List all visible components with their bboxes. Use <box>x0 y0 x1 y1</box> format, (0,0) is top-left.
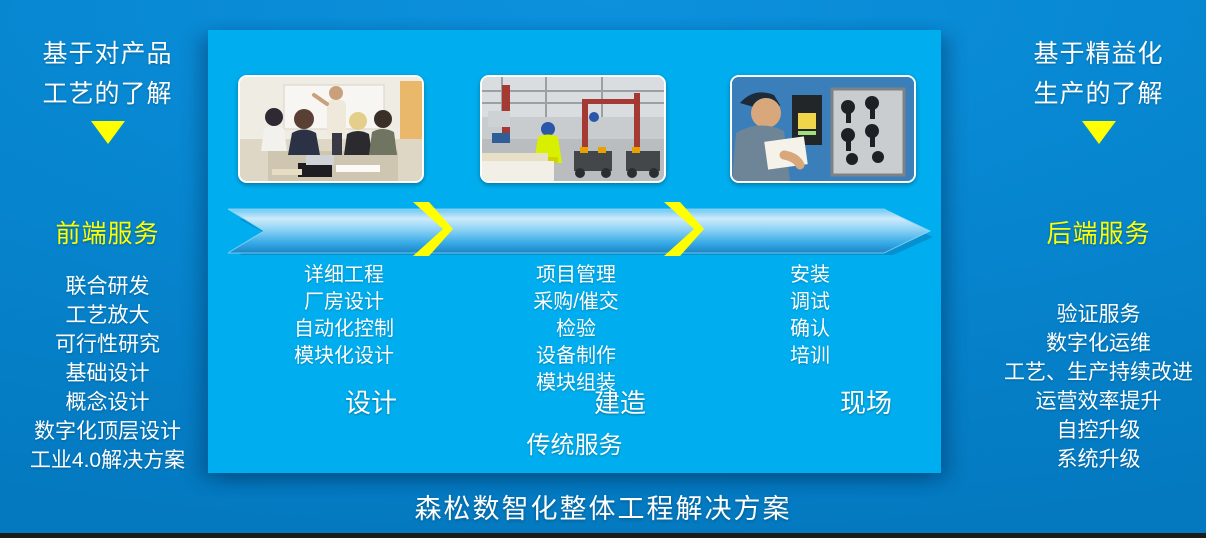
chevron-right-shape <box>660 200 706 258</box>
meeting-photo-illustration <box>240 77 422 181</box>
left-column: 基于对产品 工艺的了解 前端服务 联合研发 工艺放大 可行性研究 基础设计 概念… <box>0 0 215 500</box>
service-column-build: 项目管理 采购/催交 检验 设备制作 模块组装 <box>470 262 682 397</box>
list-item: 数字化运维 <box>991 329 1206 358</box>
right-headline-line1: 基于精益化 <box>991 34 1206 74</box>
list-item: 自控升级 <box>991 416 1206 445</box>
list-item: 确认 <box>720 316 900 343</box>
triangle-down-icon <box>91 121 125 144</box>
list-item: 基础设计 <box>0 359 215 388</box>
service-columns: 详细工程 厂房设计 自动化控制 模块化设计 项目管理 采购/催交 检验 设备制作… <box>208 262 941 412</box>
right-headline-line2: 生产的了解 <box>991 74 1206 114</box>
chevron-right-shape <box>409 200 455 258</box>
slide-canvas: 基于对产品 工艺的了解 前端服务 联合研发 工艺放大 可行性研究 基础设计 概念… <box>0 0 1206 538</box>
slide-caption: 森松数智化整体工程解决方案 <box>0 487 1206 526</box>
triangle-down-icon <box>1082 121 1116 144</box>
list-item: 安装 <box>720 262 900 289</box>
arrow-band-shape <box>228 205 938 259</box>
right-column: 基于精益化 生产的了解 后端服务 验证服务 数字化运维 工艺、生产持续改进 运营… <box>991 0 1206 500</box>
service-column-design: 详细工程 厂房设计 自动化控制 模块化设计 <box>238 262 450 370</box>
list-item: 数字化顶层设计 <box>0 417 215 446</box>
photo-workshop-fabrication <box>480 75 666 183</box>
list-item: 联合研发 <box>0 272 215 301</box>
service-list: 安装 调试 确认 培训 <box>720 262 900 370</box>
chevron-right-icon <box>660 200 706 263</box>
list-item: 模块组装 <box>470 370 682 397</box>
service-list: 项目管理 采购/催交 检验 设备制作 模块组装 <box>470 262 682 397</box>
list-item: 模块化设计 <box>238 343 450 370</box>
right-section-title: 后端服务 <box>991 214 1206 250</box>
left-headline-line1: 基于对产品 <box>0 34 215 74</box>
list-item: 验证服务 <box>991 300 1206 329</box>
list-item: 系统升级 <box>991 445 1206 474</box>
list-item: 工艺、生产持续改进 <box>991 358 1206 387</box>
list-item: 工艺放大 <box>0 301 215 330</box>
left-section-title: 前端服务 <box>0 214 215 250</box>
left-headline-line2: 工艺的了解 <box>0 74 215 114</box>
photo-design-meeting <box>238 75 424 183</box>
field-photo-illustration <box>732 77 914 181</box>
list-item: 调试 <box>720 289 900 316</box>
list-item: 概念设计 <box>0 388 215 417</box>
traditional-service-label: 传统服务 <box>208 425 941 460</box>
right-service-list: 验证服务 数字化运维 工艺、生产持续改进 运营效率提升 自控升级 系统升级 <box>991 300 1206 474</box>
photo-field-commissioning <box>730 75 916 183</box>
left-service-list: 联合研发 工艺放大 可行性研究 基础设计 概念设计 数字化顶层设计 工业4.0解… <box>0 272 215 475</box>
bottom-divider <box>0 533 1206 538</box>
service-column-site: 安装 调试 确认 培训 <box>720 262 900 370</box>
center-panel: 设计 建造 现场 详细工程 厂房设计 自动化控制 模块化设计 <box>208 30 941 473</box>
list-item: 工业4.0解决方案 <box>0 446 215 475</box>
list-item: 项目管理 <box>470 262 682 289</box>
list-item: 自动化控制 <box>238 316 450 343</box>
workshop-photo-illustration <box>482 77 664 181</box>
list-item: 详细工程 <box>238 262 450 289</box>
service-list: 详细工程 厂房设计 自动化控制 模块化设计 <box>238 262 450 370</box>
list-item: 运营效率提升 <box>991 387 1206 416</box>
list-item: 可行性研究 <box>0 330 215 359</box>
list-item: 厂房设计 <box>238 289 450 316</box>
process-arrow-band: 设计 建造 现场 <box>228 205 938 249</box>
photo-row <box>208 30 941 190</box>
list-item: 采购/催交 <box>470 289 682 316</box>
list-item: 设备制作 <box>470 343 682 370</box>
chevron-right-icon <box>409 200 455 263</box>
list-item: 检验 <box>470 316 682 343</box>
list-item: 培训 <box>720 343 900 370</box>
